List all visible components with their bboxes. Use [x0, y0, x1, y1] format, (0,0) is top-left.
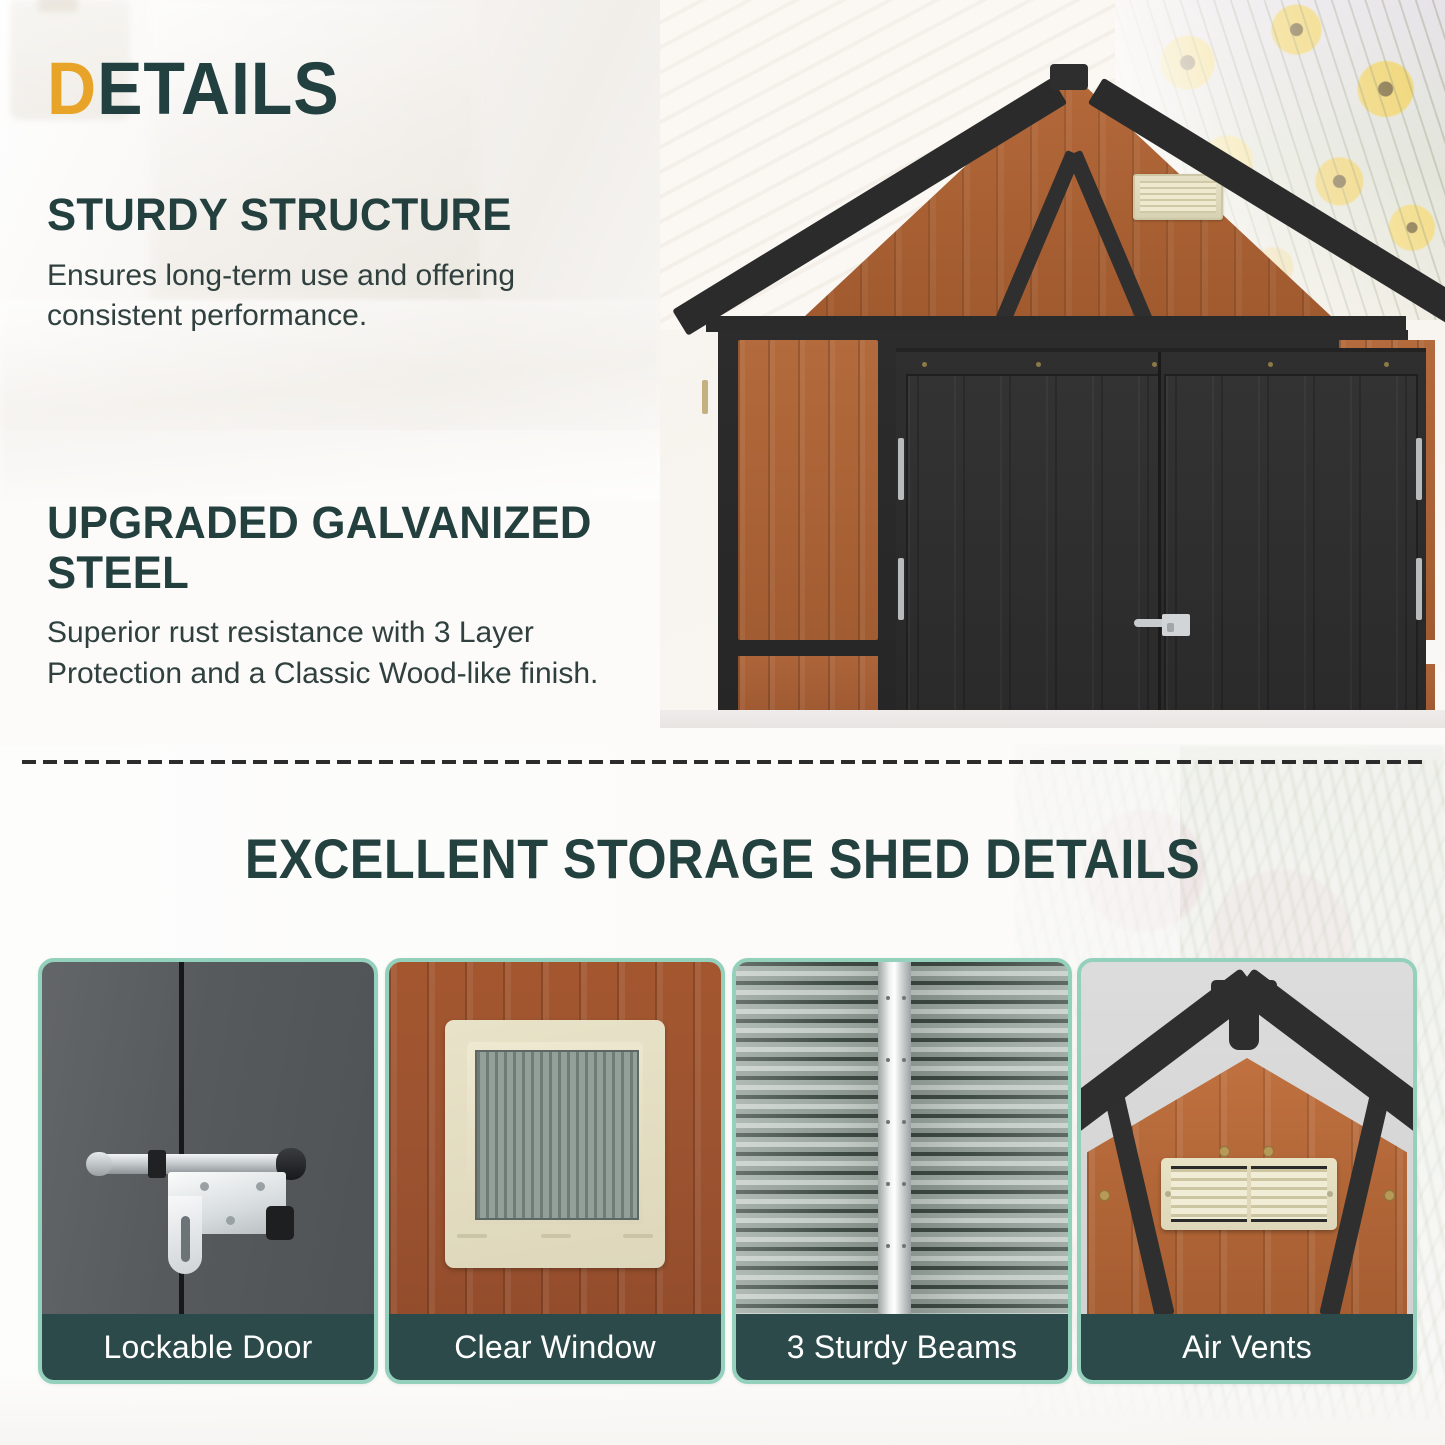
card-image-sturdy-beams: [736, 962, 1068, 1314]
feature-block-galvanized-steel: UPGRADED GALVANIZED STEEL Superior rust …: [47, 498, 700, 694]
detail-cards-row: Lockable Door Clear Window: [0, 958, 1445, 1398]
card-caption: Lockable Door: [42, 1314, 374, 1380]
shed-gable-vent-icon: [1133, 174, 1223, 220]
shed-roof-ridge: [1050, 64, 1088, 90]
shed-illustration: [688, 58, 1445, 728]
product-detail-infographic: DETAILS STURDY STRUCTURE Ensures long-te…: [0, 0, 1445, 1445]
card-image-lockable-door: [42, 962, 374, 1314]
shed-hinge-right-lower: [1416, 558, 1422, 620]
card-caption: Clear Window: [389, 1314, 721, 1380]
feature-body: Ensures long-term use and offering consi…: [47, 256, 637, 337]
card-image-air-vents: [1081, 962, 1413, 1314]
louvered-air-vent-icon: [1161, 1158, 1337, 1230]
feature-heading: UPGRADED GALVANIZED STEEL: [47, 498, 680, 597]
shed-hinge-left-upper: [898, 438, 904, 500]
page-title: DETAILS: [47, 52, 340, 126]
dashed-divider: [22, 760, 1422, 764]
shed-doors: [896, 348, 1426, 728]
shed-drip-edge: [702, 380, 708, 414]
shed-hinge-left-lower: [898, 558, 904, 620]
steel-beam-icon: [878, 962, 911, 1314]
page-title-accent: D: [47, 47, 97, 130]
feature-heading: STURDY STRUCTURE: [47, 190, 619, 240]
shed-ground: [660, 710, 1445, 728]
detail-card-sturdy-beams[interactable]: 3 Sturdy Beams: [732, 958, 1072, 1384]
feature-block-sturdy-structure: STURDY STRUCTURE Ensures long-term use a…: [47, 190, 637, 337]
card-caption: Air Vents: [1081, 1314, 1413, 1380]
hero-shed-photo: [660, 0, 1445, 728]
shed-door-seam: [1158, 352, 1161, 728]
page-title-rest: ETAILS: [97, 47, 340, 130]
card-image-clear-window: [389, 962, 721, 1314]
window-frame-icon: [445, 1020, 665, 1268]
section-title: EXCELLENT STORAGE SHED DETAILS: [72, 826, 1373, 891]
hero-text-column: DETAILS STURDY STRUCTURE Ensures long-te…: [0, 0, 700, 745]
feature-body: Superior rust resistance with 3 Layer Pr…: [47, 613, 637, 694]
shed-door-right: [1164, 374, 1418, 728]
shed-door-left: [906, 374, 1160, 728]
slide-bolt-lock-icon: [90, 1138, 330, 1258]
detail-card-lockable-door[interactable]: Lockable Door: [38, 958, 378, 1384]
card-caption: 3 Sturdy Beams: [736, 1314, 1068, 1380]
detail-card-clear-window[interactable]: Clear Window: [385, 958, 725, 1384]
shed-side-panel-left: [738, 340, 878, 640]
shed-door-lock-icon: [1134, 614, 1192, 636]
detail-card-air-vents[interactable]: Air Vents: [1077, 958, 1417, 1384]
shed-hinge-right-upper: [1416, 438, 1422, 500]
